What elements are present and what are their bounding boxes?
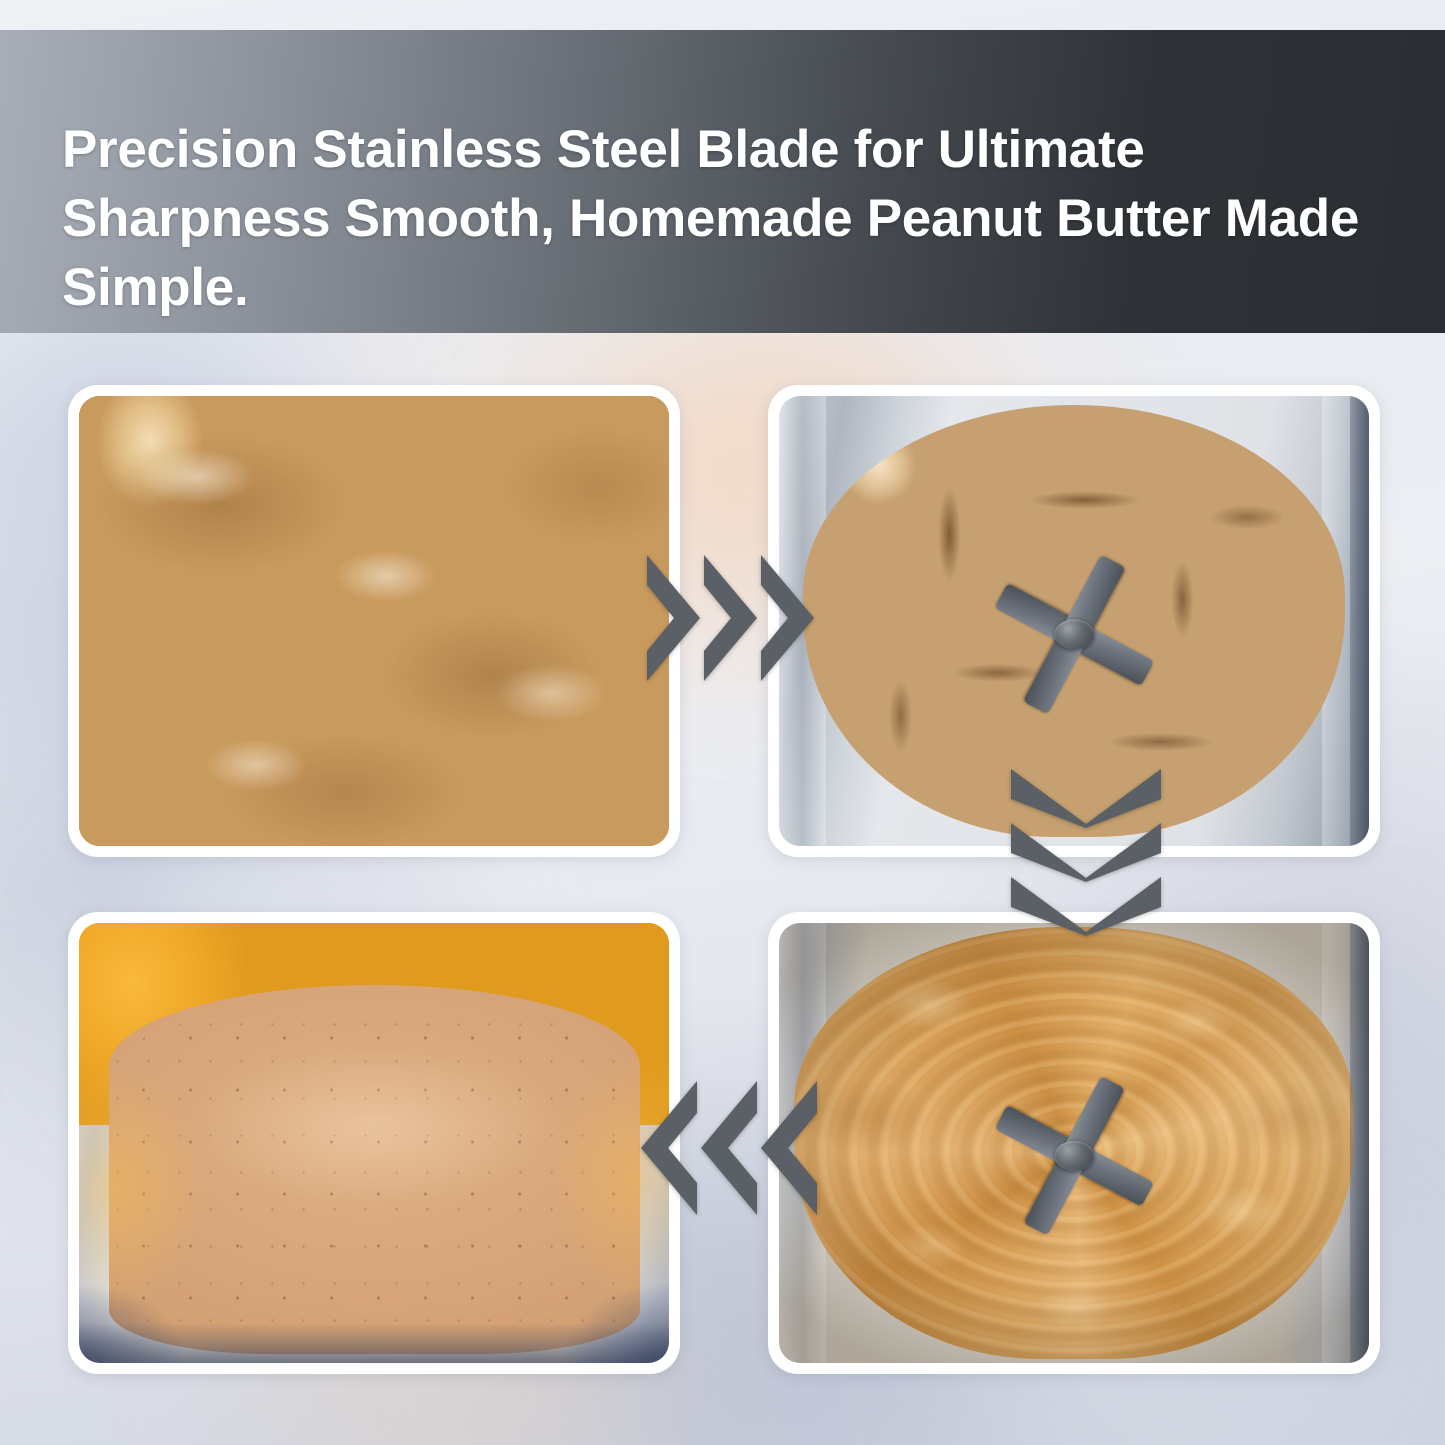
jar-corner-shadow-right bbox=[563, 1284, 669, 1363]
chevron-left-icon bbox=[636, 1078, 700, 1218]
panel-raw-peanuts bbox=[68, 385, 680, 857]
stainless-blade-icon bbox=[997, 576, 1150, 693]
chevron-left-icon bbox=[696, 1078, 760, 1218]
chevron-right-icon bbox=[701, 552, 763, 684]
infographic-stage: Precision Stainless Steel Blade for Ulti… bbox=[0, 0, 1445, 1445]
chevron-left-icon bbox=[756, 1078, 820, 1218]
jar-corner-shadow-left bbox=[79, 1284, 185, 1363]
panel-smooth-peanut-butter bbox=[68, 912, 680, 1374]
jar-vignette bbox=[779, 923, 1369, 1363]
photo-raw-peanuts bbox=[79, 396, 669, 846]
chevron-down-icon bbox=[1008, 874, 1164, 940]
photo-creamy-peanut-butter bbox=[779, 923, 1369, 1363]
page-title: Precision Stainless Steel Blade for Ulti… bbox=[62, 116, 1392, 323]
arrow-down-group bbox=[1008, 766, 1166, 946]
blade-hub-bolt bbox=[1054, 619, 1094, 649]
header-banner: Precision Stainless Steel Blade for Ulti… bbox=[0, 30, 1445, 333]
jar-edge-shadow bbox=[1350, 396, 1369, 846]
peanut-highlights bbox=[79, 396, 669, 846]
photo-smooth-peanut-butter bbox=[79, 923, 669, 1363]
chevron-right-icon bbox=[758, 552, 820, 684]
panel-creamy-peanut-butter bbox=[768, 912, 1380, 1374]
arrow-left-group bbox=[636, 1078, 820, 1218]
arrow-right-group bbox=[644, 552, 820, 684]
chevron-right-icon bbox=[644, 552, 706, 684]
jar-edge-shadow bbox=[1350, 923, 1369, 1363]
